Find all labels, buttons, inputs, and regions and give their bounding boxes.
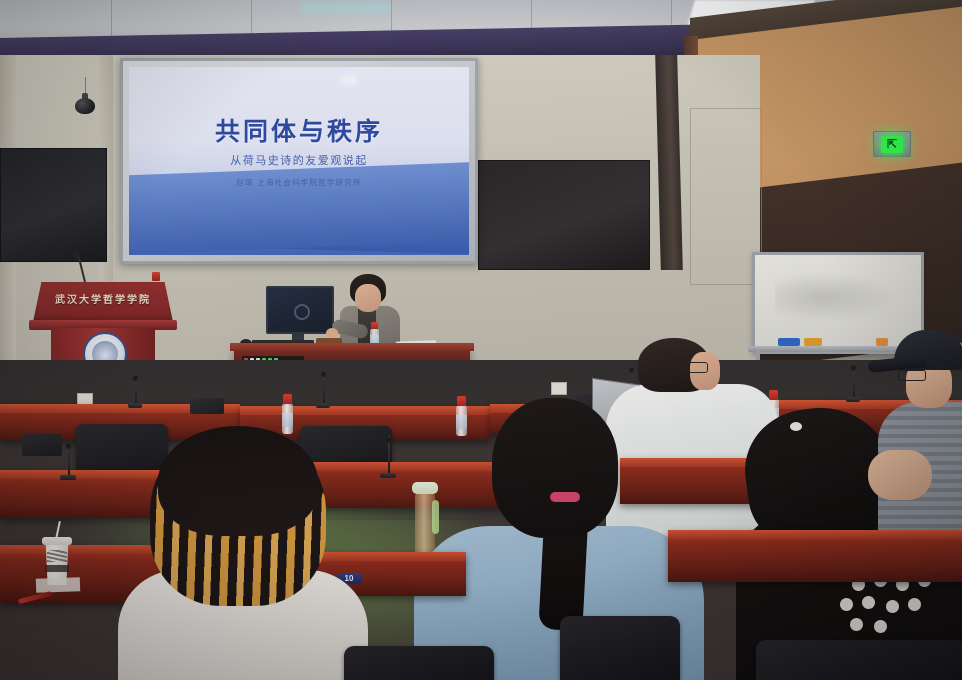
speaker-hand	[326, 328, 338, 338]
cap-man-arm	[868, 450, 932, 500]
lecture-hall-photo: ⇱ 共同体与秩序 从荷马史诗的友爱观说起 赵琦 上海社会科学院哲学研究所	[0, 0, 962, 680]
glasses-icon	[898, 370, 926, 381]
desk-microphone	[846, 368, 860, 402]
chair	[756, 640, 962, 680]
water-bottle	[282, 394, 293, 434]
screen-glare	[340, 75, 358, 85]
security-camera-icon	[75, 95, 95, 114]
cup-lid	[42, 537, 72, 545]
ombre-hair-crown	[158, 426, 318, 536]
slide-surface: 共同体与秩序 从荷马史诗的友爱观说起 赵琦 上海社会科学院哲学研究所	[129, 67, 469, 255]
desk-microphone	[380, 440, 396, 478]
slide-author: 赵琦 上海社会科学院哲学研究所	[129, 177, 469, 188]
whiteboard-smudge	[775, 272, 898, 322]
bottle-cap	[371, 322, 378, 329]
cup-band	[45, 565, 69, 572]
desk-equipment-box	[22, 434, 62, 456]
podium-label: 武汉大学哲学学院	[33, 291, 173, 306]
audience-woman-ombre-hair	[128, 430, 358, 680]
wall-display-left	[0, 148, 107, 262]
slide-subtitle: 从荷马史诗的友爱观说起	[129, 152, 469, 168]
hair-clip	[790, 422, 802, 431]
exit-sign-glyph: ⇱	[887, 138, 897, 150]
desk-microphone	[60, 446, 76, 480]
cup-print	[47, 550, 67, 562]
glasses-icon	[684, 362, 708, 373]
napkin	[36, 577, 80, 593]
slide-text-block: 共同体与秩序 从荷马史诗的友爱观说起 赵琦 上海社会科学院哲学研究所	[129, 112, 469, 188]
desk-microphone	[316, 374, 330, 408]
ceiling-light-tint	[300, 2, 390, 14]
podium-top: 武汉大学哲学学院	[33, 282, 173, 322]
blue-shirt-hair	[492, 398, 618, 538]
podium-mic-head	[73, 252, 80, 259]
camera-dome	[75, 98, 95, 114]
wall-outlet	[551, 382, 567, 395]
slide-title: 共同体与秩序	[129, 112, 469, 148]
stage-desk-top-edge	[230, 343, 474, 351]
hair-tie	[550, 492, 580, 502]
chair	[560, 616, 680, 680]
orange-marker	[804, 338, 822, 346]
podium-indicator-light	[152, 272, 160, 281]
desk-microphone	[128, 378, 142, 408]
projection-screen: 共同体与秩序 从荷马史诗的友爱观说起 赵琦 上海社会科学院哲学研究所	[120, 58, 478, 264]
desk-equipment-box	[190, 398, 224, 414]
chair	[344, 646, 494, 680]
blue-marker	[778, 338, 800, 346]
exit-sign-glow: ⇱	[881, 136, 903, 153]
speaker-face	[355, 284, 381, 312]
exit-sign: ⇱	[873, 131, 911, 157]
monitor-screen	[266, 286, 334, 334]
audience-desk-row	[668, 530, 962, 582]
dell-logo-icon	[294, 304, 310, 320]
wall-display-right	[478, 160, 650, 270]
